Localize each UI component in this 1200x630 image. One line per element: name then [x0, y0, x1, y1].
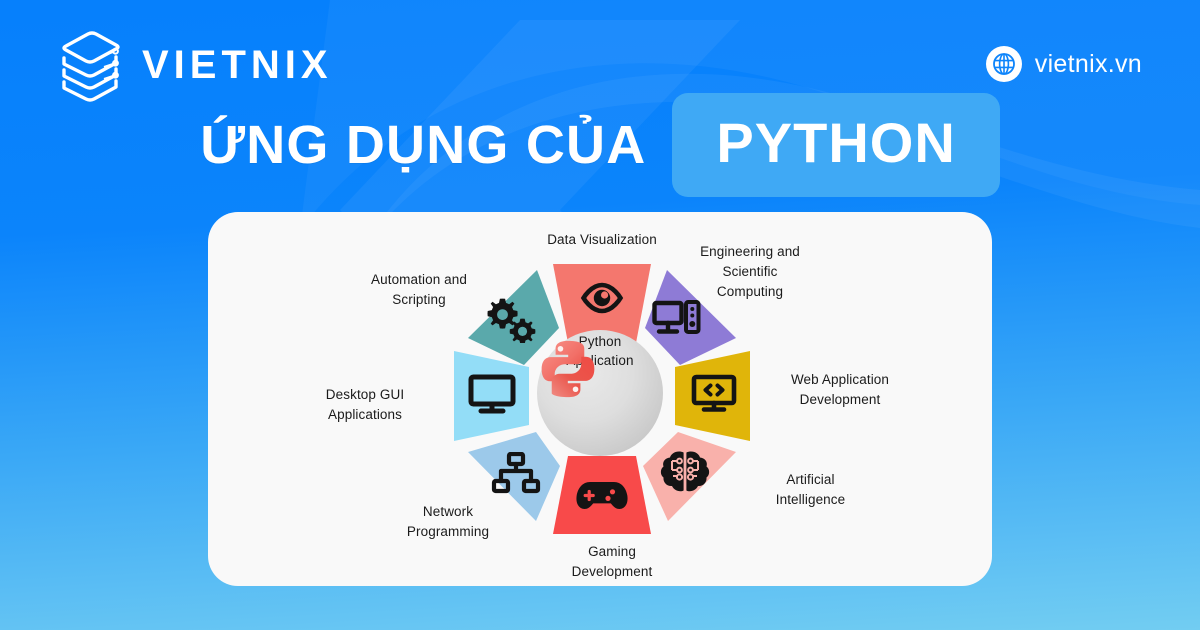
label-gaming-development: Gaming Development — [502, 542, 722, 582]
page-title: ỨNG DỤNG CỦA PYTHON — [0, 96, 1200, 194]
python-logo-icon — [537, 338, 599, 400]
diagram-card: Python Application Data Visualization En… — [208, 212, 992, 586]
title-main-text: ỨNG DỤNG CỦA — [200, 118, 672, 172]
brand-logo[interactable]: VIETNIX — [58, 28, 333, 102]
label-web-application-development: Web Application Development — [750, 370, 930, 410]
title-badge: PYTHON — [672, 93, 999, 197]
title-badge-text: PYTHON — [716, 115, 955, 171]
python-applications-diagram: Python Application Data Visualization En… — [208, 212, 992, 586]
poster-canvas: VIETNIX vietnix.vn ỨNG DỤNG CỦA PYTHON — [0, 0, 1200, 630]
label-desktop-gui-applications: Desktop GUI Applications — [276, 385, 454, 425]
globe-icon — [986, 46, 1022, 82]
website-label: vietnix.vn — [1035, 50, 1142, 79]
label-automation-and-scripting: Automation and Scripting — [326, 270, 512, 310]
label-artificial-intelligence: Artificial Intelligence — [728, 470, 893, 510]
brand-name: VIETNIX — [142, 45, 333, 85]
stacked-layers-icon — [58, 28, 128, 102]
diagram-center-hub: Python Application — [537, 330, 663, 456]
label-network-programming: Network Programming — [358, 502, 538, 542]
label-engineering-scientific-computing: Engineering and Scientific Computing — [660, 242, 840, 302]
website-link[interactable]: vietnix.vn — [986, 46, 1142, 82]
